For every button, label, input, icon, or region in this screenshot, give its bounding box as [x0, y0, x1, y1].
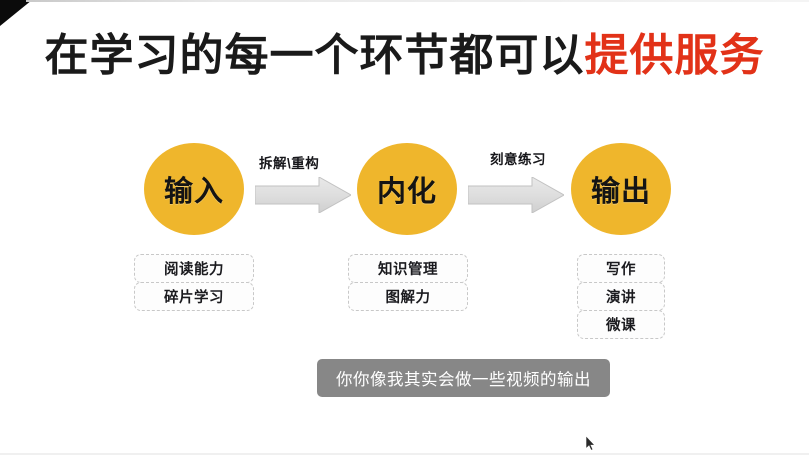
- tag-item: 阅读能力: [134, 254, 254, 283]
- tag-group-internalize: 知识管理 图解力: [348, 254, 468, 311]
- flow-node-output: 输出: [571, 143, 671, 235]
- arrow-label-deconstruct: 拆解\重构: [259, 152, 319, 172]
- mouse-cursor-icon: [586, 436, 596, 451]
- arrow-label-practice: 刻意练习: [490, 148, 546, 168]
- tag-item: 写作: [577, 254, 665, 283]
- tag-item: 演讲: [577, 282, 665, 311]
- subtitle-overlay: 你你像我其实会做一些视频的输出: [317, 359, 610, 397]
- arrow-right-icon: [468, 177, 564, 213]
- flow-node-input: 输入: [144, 143, 244, 235]
- tag-group-output: 写作 演讲 微课: [577, 254, 665, 339]
- subtitle-text: 你你像我其实会做一些视频的输出: [336, 366, 591, 390]
- flow-node-internalize-label: 内化: [377, 168, 437, 210]
- flow-node-internalize: 内化: [357, 143, 457, 235]
- tag-item: 微课: [577, 310, 665, 339]
- tag-item: 知识管理: [348, 254, 468, 283]
- tag-item: 碎片学习: [134, 282, 254, 311]
- arrow-right-icon: [255, 177, 351, 213]
- flow-node-output-label: 输出: [591, 168, 651, 210]
- flow-node-input-label: 输入: [164, 168, 224, 210]
- tag-item: 图解力: [348, 282, 468, 311]
- video-slide-frame: 在学习的每一个环节都可以提供服务 输入 内化 输出: [0, 0, 809, 455]
- tag-group-input: 阅读能力 碎片学习: [134, 254, 254, 311]
